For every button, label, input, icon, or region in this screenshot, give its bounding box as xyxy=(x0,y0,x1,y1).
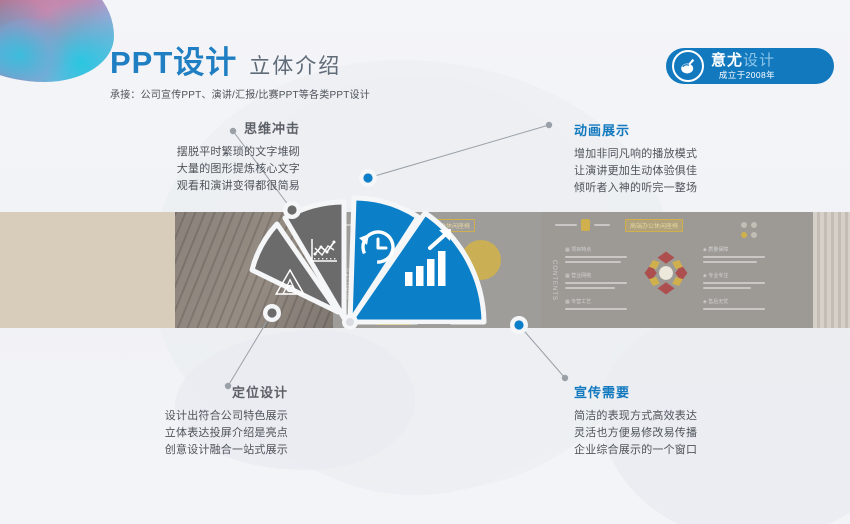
logo-name-strong: 意尤 xyxy=(711,52,743,69)
callout-xuanchuan-heading: 宣传需要 xyxy=(574,382,804,401)
callout-xuanchuan-line-1: 简洁的表现方式高效表达 xyxy=(574,408,804,425)
callout-donghua-line-3: 倾听者入神的听完一整场 xyxy=(574,180,804,197)
logo-name-dim: 设计 xyxy=(743,52,775,69)
mouse-pen-badge-icon xyxy=(672,50,704,82)
callout-donghua-line-1: 增加非同凡响的播放模式 xyxy=(574,146,804,163)
callout-xuanchuan-line-2: 灵活也方便易修改易传播 xyxy=(574,425,804,442)
callout-dingwei-line-2: 立体表达投屏介绍是亮点 xyxy=(66,425,288,442)
callout-dingwei-line-1: 设计出符合公司特色展示 xyxy=(66,408,288,425)
callout-siwei-line-1: 摆脱平时繁琐的文字堆砌 xyxy=(78,144,300,161)
logo-established: 成立于2008年 xyxy=(711,71,775,80)
callout-siwei: 思维冲击 摆脱平时繁琐的文字堆砌 大量的图形提炼核心文字 观看和演讲变得都很简易 xyxy=(78,118,300,195)
callout-dingwei-line-3: 创意设计融合一站式展示 xyxy=(66,442,288,459)
callout-dingwei: 定位设计 设计出符合公司特色展示 立体表达投屏介绍是亮点 创意设计融合一站式展示 xyxy=(66,382,288,459)
callout-xuanchuan: 宣传需要 简洁的表现方式高效表达 灵活也方便易修改易传播 企业综合展示的一个窗口 xyxy=(574,382,804,459)
callout-donghua: 动画展示 增加非同凡响的播放模式 让演讲更加生动体验俱佳 倾听者入神的听完一整场 xyxy=(574,120,804,197)
callout-siwei-line-3: 观看和演讲变得都很简易 xyxy=(78,178,300,195)
callout-donghua-heading: 动画展示 xyxy=(574,120,804,139)
callout-xuanchuan-line-3: 企业综合展示的一个窗口 xyxy=(574,442,804,459)
callout-siwei-line-2: 大量的图形提炼核心文字 xyxy=(78,161,300,178)
slide-canvas: 高端办公休闲座椅 头层牛皮 03 BAIJIPIN 高端办公休闲座椅 xyxy=(0,0,850,524)
title-subtitle: 立体介绍 xyxy=(249,56,341,77)
callout-siwei-heading: 思维冲击 xyxy=(78,118,300,137)
page-title: PPT设计 立体介绍 xyxy=(110,47,341,78)
callout-donghua-line-2: 让演讲更加生动体验俱佳 xyxy=(574,163,804,180)
brand-logo[interactable]: 意尤设计 成立于2008年 xyxy=(666,48,834,84)
tagline: 承接：公司宣传PPT、演讲/汇报/比赛PPT等各类PPT设计 xyxy=(110,86,370,101)
callout-dingwei-heading: 定位设计 xyxy=(66,382,288,401)
title-main: PPT设计 xyxy=(110,47,237,78)
